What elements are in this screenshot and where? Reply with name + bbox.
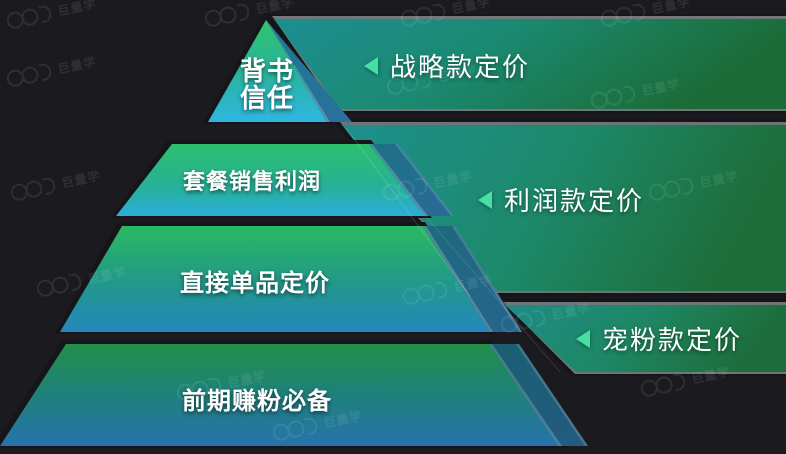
panel-profit-label: 利润款定价 xyxy=(504,181,644,218)
left-triangle-icon xyxy=(364,57,378,75)
panel-fan-label-group[interactable]: 宠粉款定价 xyxy=(576,320,742,357)
panel-fan-label: 宠粉款定价 xyxy=(602,320,742,357)
left-triangle-icon xyxy=(576,330,590,348)
panel-profit-label-group[interactable]: 利润款定价 xyxy=(478,181,644,218)
panel-strategy-label-group[interactable]: 战略款定价 xyxy=(364,47,530,84)
pyramid-tier-3 xyxy=(54,222,522,334)
pyramid-tier-4 xyxy=(0,340,588,448)
pyramid-tier-2 xyxy=(110,140,454,218)
left-triangle-icon xyxy=(478,191,492,209)
pricing-pyramid-slide: 巨量学 巨量学 巨量学 巨量学 巨量学 巨量学 巨量学 xyxy=(0,0,786,454)
panel-strategy-label: 战略款定价 xyxy=(390,47,530,84)
